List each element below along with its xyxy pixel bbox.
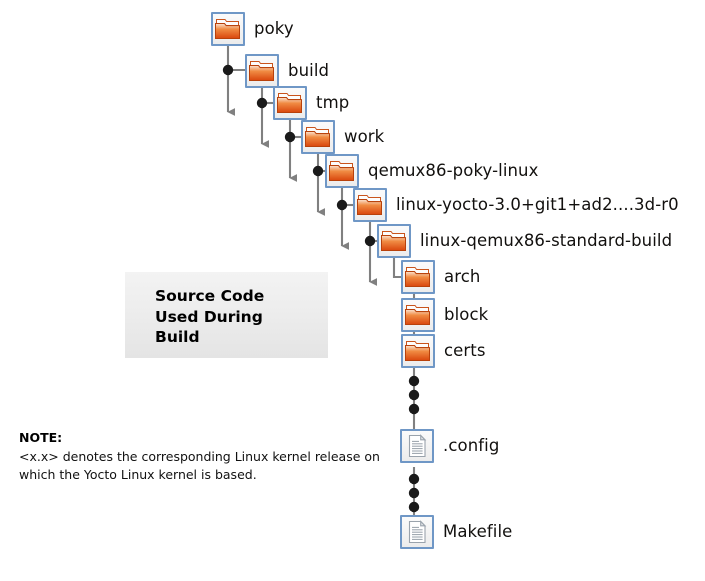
tree-node-label: qemux86-poky-linux	[368, 163, 538, 180]
callout-line-3: Build	[155, 327, 264, 348]
tree-node-build[interactable]: build	[245, 54, 329, 88]
tree-node-label: block	[444, 307, 488, 324]
document-icon	[400, 429, 434, 463]
connector-layer	[0, 0, 705, 581]
tree-node-certs[interactable]: certs	[401, 334, 486, 368]
tree-node-poky[interactable]: poky	[211, 12, 294, 46]
callout-text-block: Source Code Used During Build	[155, 286, 264, 348]
folder-icon	[245, 54, 279, 88]
folder-icon	[301, 120, 335, 154]
tree-node-label: poky	[254, 21, 294, 38]
tree-node-label: linux-qemux86-standard-build	[420, 233, 672, 250]
folder-icon	[273, 86, 307, 120]
callout-line-2: Used During	[155, 307, 264, 328]
folder-icon	[401, 260, 435, 294]
folder-icon	[353, 188, 387, 222]
tree-node-linux-yocto[interactable]: linux-yocto-3.0+git1+ad2....3d-r0	[353, 188, 679, 222]
folder-icon	[401, 298, 435, 332]
folder-icon	[325, 154, 359, 188]
directory-tree-diagram: poky build tmp work	[0, 0, 705, 581]
source-code-callout: Source Code Used During Build	[125, 272, 328, 358]
folder-icon	[401, 334, 435, 368]
tree-node-makefile[interactable]: Makefile	[400, 515, 512, 549]
tree-node-label: linux-yocto-3.0+git1+ad2....3d-r0	[396, 197, 679, 214]
tree-node-label: tmp	[316, 95, 349, 112]
tree-node-work[interactable]: work	[301, 120, 384, 154]
folder-icon	[377, 224, 411, 258]
tree-node-label: certs	[444, 343, 486, 360]
tree-node-label: work	[344, 129, 384, 146]
tree-node-block[interactable]: block	[401, 298, 488, 332]
note-block: NOTE: <x.x> denotes the corresponding Li…	[19, 430, 384, 485]
note-body: <x.x> denotes the corresponding Linux ke…	[19, 448, 384, 484]
tree-node-tmp[interactable]: tmp	[273, 86, 349, 120]
tree-node-arch[interactable]: arch	[401, 260, 480, 294]
callout-line-1: Source Code	[155, 286, 264, 307]
tree-node-linux-qemux86-standard-build[interactable]: linux-qemux86-standard-build	[377, 224, 672, 258]
tree-node-label: Makefile	[443, 524, 512, 541]
note-heading: NOTE:	[19, 430, 384, 446]
tree-node-label: arch	[444, 269, 480, 286]
tree-node-config-file[interactable]: .config	[400, 429, 499, 463]
document-icon	[400, 515, 434, 549]
tree-node-label: .config	[443, 438, 499, 455]
folder-icon	[211, 12, 245, 46]
tree-node-qemux86-poky-linux[interactable]: qemux86-poky-linux	[325, 154, 538, 188]
tree-node-label: build	[288, 63, 329, 80]
